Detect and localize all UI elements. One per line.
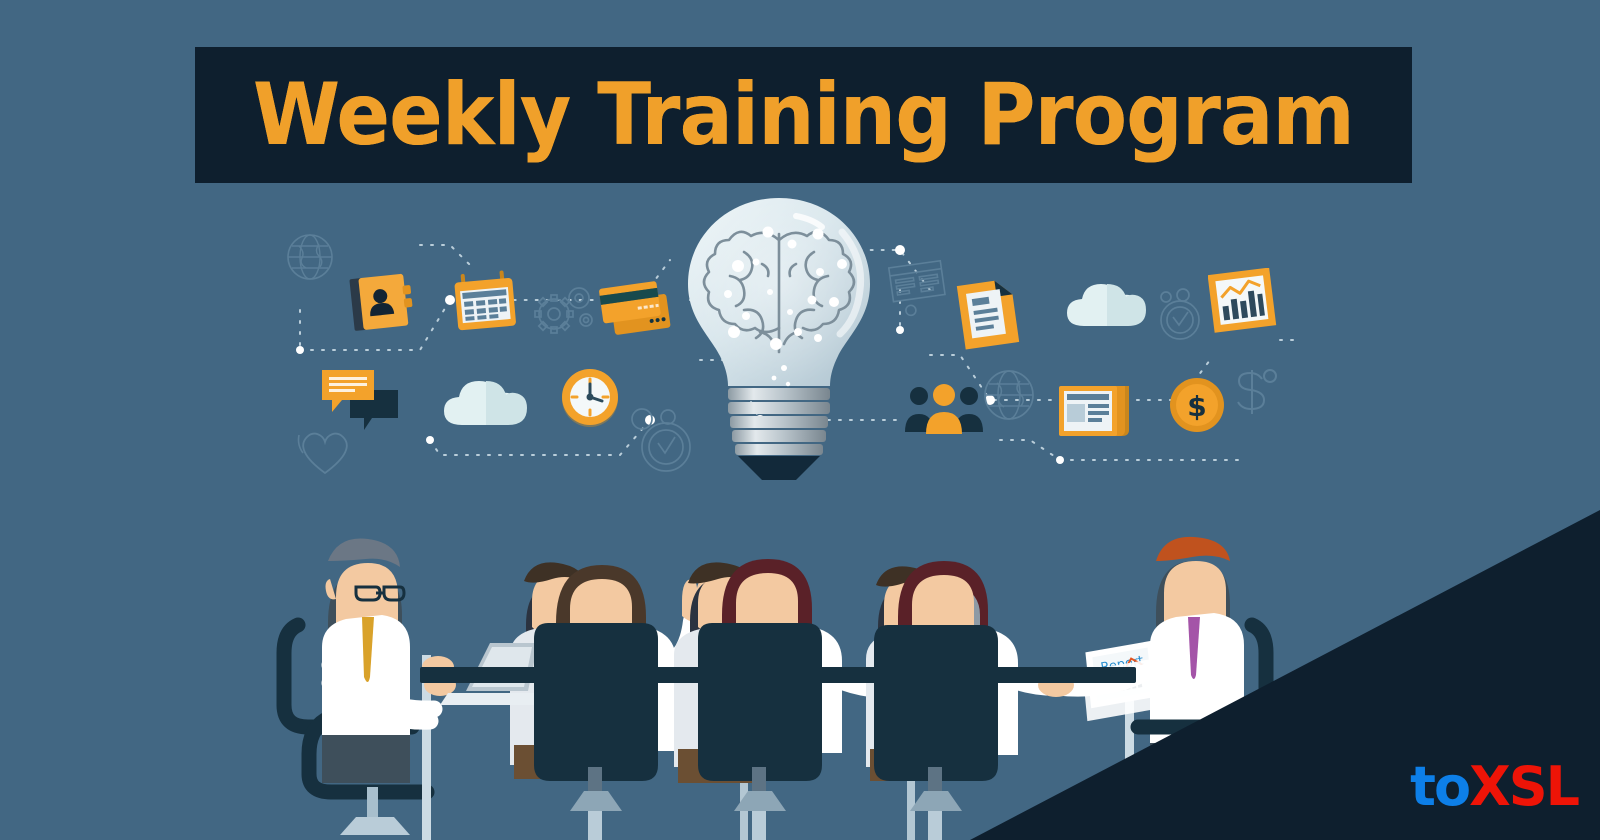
globe-outline-icon <box>982 368 1036 422</box>
lightbulb-with-brain-icon <box>672 192 886 482</box>
dollar-sign-outline-icon <box>1222 362 1278 422</box>
chair-center-left <box>534 623 658 840</box>
logo-text-to: to <box>1410 755 1469 818</box>
cloud-icon <box>440 375 534 431</box>
cloud-icon <box>1063 278 1153 332</box>
person-presenter <box>322 538 456 783</box>
page-title: Weekly Training Program <box>253 72 1354 158</box>
news-article-icon <box>1055 382 1135 438</box>
dollar-coin-icon: $ <box>1168 376 1226 434</box>
globe-outline-icon <box>285 232 335 282</box>
credit-cards-icon <box>598 280 674 340</box>
document-icon <box>955 278 1021 350</box>
browser-window-outline-icon <box>888 258 950 320</box>
calendar-icon <box>450 268 522 334</box>
chair-center-right <box>874 625 998 840</box>
contact-book-icon <box>348 272 416 334</box>
gears-outline-icon <box>530 280 596 342</box>
clock-icon <box>558 365 622 429</box>
people-group-icon <box>905 382 983 436</box>
meeting-table <box>420 667 1136 683</box>
svg-text:$: $ <box>1187 390 1206 423</box>
timer-outline-icon <box>1152 288 1210 344</box>
chair-center <box>698 623 822 840</box>
chat-bubbles-icon <box>320 368 402 434</box>
bar-chart-icon <box>1208 268 1278 334</box>
title-banner: Weekly Training Program <box>195 47 1412 183</box>
logo-text-xsl: XSL <box>1469 755 1578 818</box>
poster-canvas: Weekly Training Program <box>0 0 1600 840</box>
toxsl-logo[interactable]: toXSL <box>1410 760 1578 814</box>
